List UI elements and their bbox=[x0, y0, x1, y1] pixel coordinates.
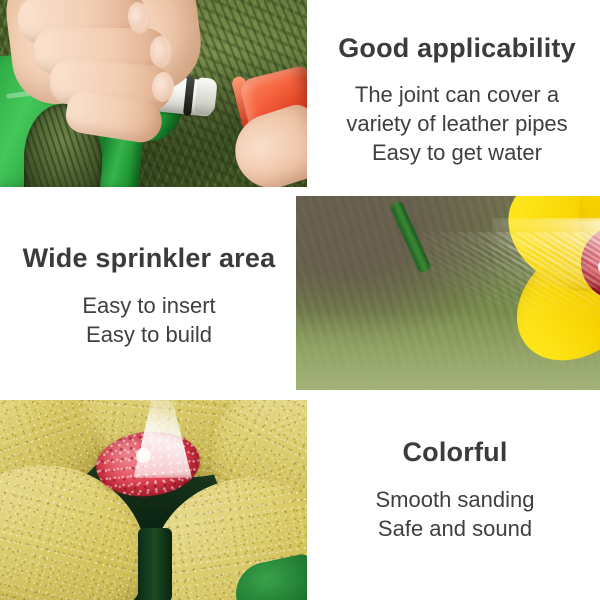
feature-line: Easy to insert bbox=[8, 291, 290, 320]
water-jet-core bbox=[492, 218, 600, 288]
feature-block-applicability: Good applicability The joint can cover a… bbox=[318, 34, 596, 167]
feature-block-colorful: Colorful Smooth sanding Safe and sound bbox=[330, 438, 580, 543]
feature-lines-sprinkler-area: Easy to insert Easy to build bbox=[8, 291, 290, 350]
hose-connector-photo bbox=[0, 0, 307, 187]
feature-line: Easy to get water bbox=[318, 138, 596, 167]
feature-line: The joint can cover a bbox=[318, 80, 596, 109]
feature-heading-sprinkler-area: Wide sprinkler area bbox=[8, 244, 290, 274]
feature-block-sprinkler-area: Wide sprinkler area Easy to insert Easy … bbox=[8, 244, 290, 349]
spraying-flower-photo bbox=[296, 196, 600, 390]
infographic-canvas: Good applicability The joint can cover a… bbox=[0, 0, 600, 600]
feature-heading-applicability: Good applicability bbox=[318, 34, 596, 64]
feature-line: variety of leather pipes bbox=[318, 109, 596, 138]
feature-line: Easy to build bbox=[8, 320, 290, 349]
feature-line: Smooth sanding bbox=[330, 485, 580, 514]
feature-heading-colorful: Colorful bbox=[330, 438, 580, 468]
feature-lines-colorful: Smooth sanding Safe and sound bbox=[330, 485, 580, 544]
macro-stem bbox=[138, 528, 172, 600]
feature-line: Safe and sound bbox=[330, 514, 580, 543]
feature-lines-applicability: The joint can cover a variety of leather… bbox=[318, 80, 596, 168]
macro-flower-photo bbox=[0, 400, 307, 600]
